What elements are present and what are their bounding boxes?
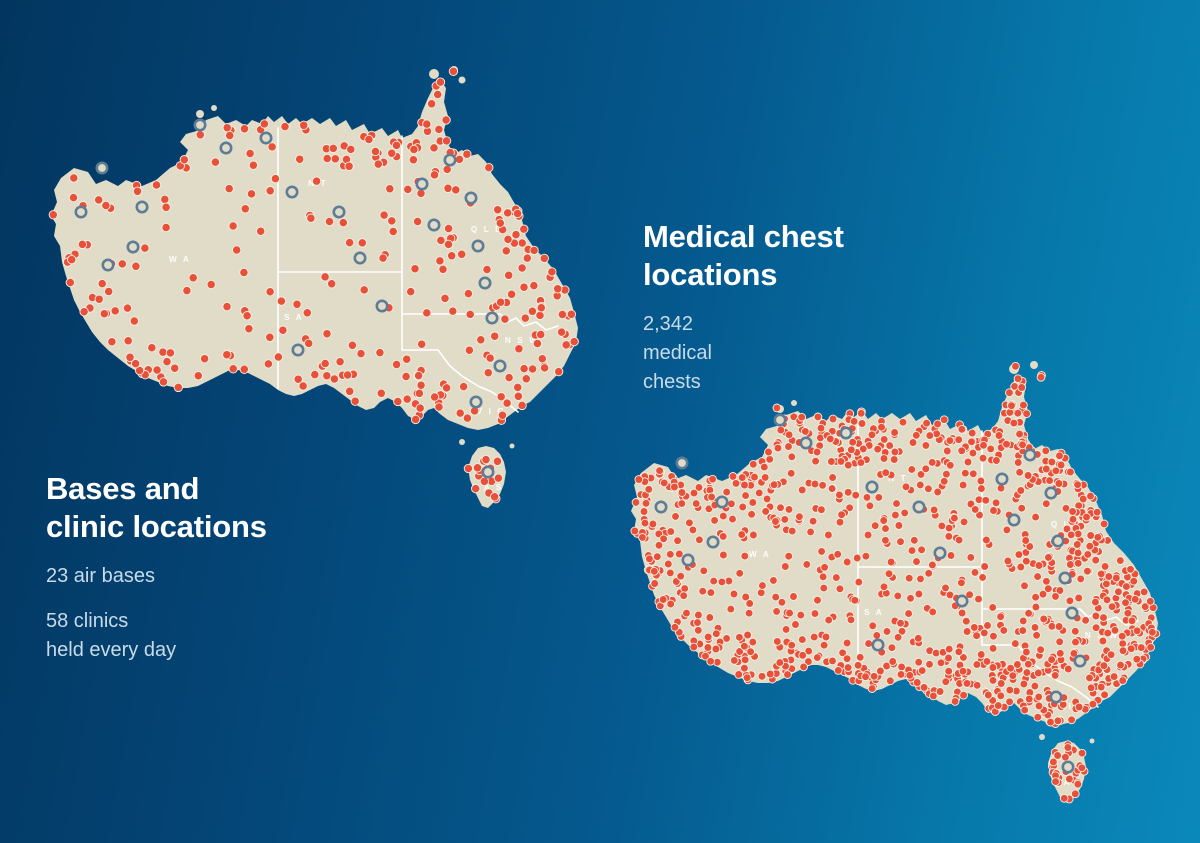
clinic-marker bbox=[357, 349, 365, 357]
clinic-marker bbox=[719, 533, 727, 541]
clinic-marker bbox=[528, 307, 536, 315]
clinic-marker bbox=[969, 470, 977, 478]
clinic-marker bbox=[1014, 409, 1022, 417]
clinic-marker bbox=[970, 624, 978, 632]
clinic-marker bbox=[639, 534, 647, 542]
clinic-marker bbox=[819, 481, 827, 489]
clinic-marker bbox=[1052, 778, 1060, 786]
clinic-marker bbox=[818, 548, 826, 556]
clinic-marker bbox=[379, 254, 387, 262]
air-base-marker bbox=[801, 438, 811, 448]
clinic-marker bbox=[747, 648, 755, 656]
clinic-marker bbox=[1082, 616, 1090, 624]
clinic-marker bbox=[435, 403, 443, 411]
clinic-marker bbox=[895, 522, 903, 530]
clinic-marker bbox=[1051, 672, 1059, 680]
clinic-marker bbox=[498, 411, 506, 419]
air-base-marker bbox=[867, 482, 877, 492]
clinic-marker bbox=[690, 643, 698, 651]
clinic-marker bbox=[494, 474, 502, 482]
clinic-marker bbox=[1111, 626, 1119, 634]
clinic-marker bbox=[750, 531, 758, 539]
clinic-marker bbox=[926, 660, 934, 668]
clinic-marker bbox=[798, 413, 806, 421]
clinic-marker bbox=[266, 187, 274, 195]
clinic-marker bbox=[365, 135, 373, 143]
clinic-marker bbox=[388, 149, 396, 157]
clinic-marker bbox=[111, 307, 119, 315]
clinic-marker bbox=[963, 680, 971, 688]
clinic-marker bbox=[520, 364, 528, 372]
clinic-marker bbox=[521, 314, 529, 322]
clinic-marker bbox=[271, 174, 279, 182]
clinic-marker bbox=[707, 657, 715, 665]
clinic-marker bbox=[1087, 684, 1095, 692]
clinic-marker bbox=[442, 137, 450, 145]
clinic-marker bbox=[1021, 582, 1029, 590]
clinic-marker bbox=[371, 147, 379, 155]
clinic-marker bbox=[836, 585, 844, 593]
air-base-marker bbox=[775, 415, 785, 425]
clinic-marker bbox=[1050, 758, 1058, 766]
air-base-marker bbox=[128, 242, 138, 252]
clinic-marker bbox=[892, 511, 900, 519]
clinic-marker bbox=[409, 156, 417, 164]
clinic-marker bbox=[908, 466, 916, 474]
clinic-marker bbox=[843, 639, 851, 647]
clinic-marker bbox=[893, 500, 901, 508]
clinic-marker bbox=[811, 610, 819, 618]
clinic-marker bbox=[1056, 638, 1064, 646]
clinic-marker bbox=[394, 397, 402, 405]
clinic-marker bbox=[1048, 656, 1056, 664]
clinic-marker bbox=[982, 496, 990, 504]
clinic-marker bbox=[274, 353, 282, 361]
clinic-marker bbox=[266, 333, 274, 341]
clinic-marker bbox=[194, 372, 202, 380]
clinic-marker bbox=[300, 121, 308, 129]
clinic-marker bbox=[1089, 700, 1097, 708]
clinic-marker bbox=[1119, 677, 1127, 685]
clinic-marker bbox=[951, 514, 959, 522]
clinic-marker bbox=[770, 481, 778, 489]
clinic-marker bbox=[758, 672, 766, 680]
clinic-marker bbox=[880, 455, 888, 463]
clinic-marker bbox=[671, 623, 679, 631]
air-base-marker bbox=[841, 428, 851, 438]
clinic-marker bbox=[781, 516, 789, 524]
clinic-marker bbox=[989, 664, 997, 672]
clinic-marker bbox=[869, 622, 877, 630]
clinic-marker bbox=[719, 512, 727, 520]
clinic-marker bbox=[1032, 593, 1040, 601]
clinic-marker bbox=[822, 633, 830, 641]
clinic-marker bbox=[226, 131, 234, 139]
clinic-marker bbox=[946, 461, 954, 469]
clinic-marker bbox=[1064, 744, 1072, 752]
clinic-marker bbox=[1101, 691, 1109, 699]
clinic-marker bbox=[773, 404, 781, 412]
clinic-marker bbox=[162, 203, 170, 211]
clinic-marker bbox=[788, 453, 796, 461]
clinic-marker bbox=[1039, 590, 1047, 598]
clinic-marker bbox=[477, 336, 485, 344]
clinic-marker bbox=[449, 67, 457, 75]
clinic-marker bbox=[439, 265, 447, 273]
clinic-marker bbox=[855, 578, 863, 586]
clinic-marker bbox=[245, 325, 253, 333]
clinic-marker bbox=[1115, 588, 1123, 596]
clinic-marker bbox=[1048, 458, 1056, 466]
clinic-marker bbox=[678, 489, 686, 497]
air-base-marker bbox=[261, 133, 271, 143]
clinic-marker bbox=[945, 533, 953, 541]
clinic-marker bbox=[305, 339, 313, 347]
clinic-marker bbox=[1087, 532, 1095, 540]
clinic-marker bbox=[993, 457, 1001, 465]
clinic-marker bbox=[997, 680, 1005, 688]
air-base-marker bbox=[483, 467, 493, 477]
clinic-marker bbox=[967, 554, 975, 562]
clinic-marker bbox=[1023, 410, 1031, 418]
clinic-marker bbox=[444, 184, 452, 192]
clinic-marker bbox=[667, 600, 675, 608]
clinic-marker bbox=[850, 417, 858, 425]
clinic-marker bbox=[490, 493, 498, 501]
clinic-marker bbox=[843, 558, 851, 566]
clinic-marker bbox=[930, 506, 938, 514]
clinic-marker bbox=[925, 485, 933, 493]
clinic-marker bbox=[635, 476, 643, 484]
clinic-marker bbox=[415, 389, 423, 397]
clinic-marker bbox=[1035, 562, 1043, 570]
clinic-marker bbox=[1074, 780, 1082, 788]
clinic-marker bbox=[849, 438, 857, 446]
clinic-marker bbox=[380, 211, 388, 219]
clinic-marker bbox=[505, 271, 513, 279]
clinic-marker bbox=[307, 214, 315, 222]
clinic-marker bbox=[960, 518, 968, 526]
clinic-marker bbox=[947, 552, 955, 560]
clinic-marker bbox=[694, 619, 702, 627]
clinic-marker bbox=[555, 367, 563, 375]
clinic-marker bbox=[537, 330, 545, 338]
clinic-marker bbox=[800, 663, 808, 671]
clinic-marker bbox=[901, 509, 909, 517]
clinic-marker bbox=[537, 304, 545, 312]
clinic-marker bbox=[973, 681, 981, 689]
clinic-marker bbox=[331, 155, 339, 163]
clinic-marker bbox=[277, 297, 285, 305]
clinic-marker bbox=[766, 670, 774, 678]
clinic-marker bbox=[936, 688, 944, 696]
clinic-marker bbox=[667, 528, 675, 536]
clinic-marker bbox=[868, 685, 876, 693]
clinic-marker bbox=[241, 205, 249, 213]
clinic-marker bbox=[296, 155, 304, 163]
clinic-marker bbox=[325, 217, 333, 225]
clinic-marker bbox=[942, 584, 950, 592]
clinic-marker bbox=[303, 309, 311, 317]
clinic-marker bbox=[1047, 718, 1055, 726]
clinic-marker bbox=[102, 201, 110, 209]
clinic-marker bbox=[812, 457, 820, 465]
clinic-marker bbox=[233, 246, 241, 254]
clinic-marker bbox=[523, 254, 531, 262]
clinic-marker bbox=[718, 578, 726, 586]
clinic-marker bbox=[882, 525, 890, 533]
air-base-marker bbox=[1051, 692, 1061, 702]
clinic-marker bbox=[923, 419, 931, 427]
clinic-marker bbox=[908, 547, 916, 555]
air-base-marker bbox=[97, 163, 107, 173]
clinic-marker bbox=[430, 171, 438, 179]
clinic-marker bbox=[152, 181, 160, 189]
bases-headline: Bases and clinic locations bbox=[46, 470, 386, 546]
clinic-marker bbox=[882, 536, 890, 544]
clinic-marker bbox=[854, 661, 862, 669]
clinic-marker bbox=[540, 254, 548, 262]
clinic-marker bbox=[100, 310, 108, 318]
clinic-marker bbox=[843, 655, 851, 663]
clinic-marker bbox=[1110, 673, 1118, 681]
clinic-marker bbox=[330, 375, 338, 383]
clinic-marker bbox=[514, 383, 522, 391]
clinic-marker bbox=[897, 671, 905, 679]
clinic-marker bbox=[689, 526, 697, 534]
chests-headline: Medical chest locations bbox=[643, 218, 963, 294]
clinic-marker bbox=[171, 364, 179, 372]
clinic-marker bbox=[773, 608, 781, 616]
clinic-marker bbox=[392, 360, 400, 368]
clinic-marker bbox=[723, 488, 731, 496]
clinic-marker bbox=[917, 575, 925, 583]
clinic-marker bbox=[229, 365, 237, 373]
clinic-marker bbox=[631, 527, 639, 535]
clinic-marker bbox=[518, 264, 526, 272]
clinic-marker bbox=[987, 445, 995, 453]
clinic-marker bbox=[1075, 594, 1083, 602]
air-base-marker bbox=[487, 313, 497, 323]
clinic-marker bbox=[755, 489, 763, 497]
clinic-marker bbox=[857, 459, 865, 467]
clinic-marker bbox=[161, 195, 169, 203]
clinic-marker bbox=[915, 658, 923, 666]
clinic-marker bbox=[416, 404, 424, 412]
clinic-marker bbox=[1040, 615, 1048, 623]
clinic-marker bbox=[997, 484, 1005, 492]
clinic-marker bbox=[436, 257, 444, 265]
clinic-marker bbox=[798, 636, 806, 644]
clinic-marker bbox=[773, 638, 781, 646]
clinic-marker bbox=[683, 609, 691, 617]
clinic-marker bbox=[1083, 513, 1091, 521]
clinic-marker bbox=[1037, 373, 1045, 381]
clinic-marker bbox=[518, 239, 526, 247]
clinic-marker bbox=[1023, 648, 1031, 656]
clinic-marker bbox=[123, 304, 131, 312]
clinic-marker bbox=[459, 382, 467, 390]
clinic-marker bbox=[1127, 645, 1135, 653]
clinic-marker bbox=[1006, 389, 1014, 397]
clinic-marker bbox=[1017, 487, 1025, 495]
clinic-marker bbox=[973, 661, 981, 669]
clinic-marker bbox=[1103, 580, 1111, 588]
clinic-marker bbox=[108, 338, 116, 346]
clinic-marker bbox=[859, 445, 867, 453]
clinic-marker bbox=[664, 560, 672, 568]
air-base-marker bbox=[957, 596, 967, 606]
clinic-marker bbox=[321, 359, 329, 367]
clinic-marker bbox=[866, 502, 874, 510]
clinic-marker bbox=[871, 522, 879, 530]
clinic-marker bbox=[958, 425, 966, 433]
air-base-marker bbox=[1063, 762, 1073, 772]
clinic-marker bbox=[223, 302, 231, 310]
clinic-marker bbox=[249, 161, 257, 169]
australia-medical-chests-map: W AN TS AQ L DN S WV I CT A S bbox=[610, 345, 1190, 815]
clinic-marker bbox=[762, 508, 770, 516]
clinic-marker bbox=[1069, 508, 1077, 516]
clinic-marker bbox=[672, 513, 680, 521]
air-base-marker bbox=[287, 187, 297, 197]
clinic-marker bbox=[958, 609, 966, 617]
clinic-marker bbox=[645, 485, 653, 493]
clinic-marker bbox=[797, 611, 805, 619]
clinic-marker bbox=[898, 663, 906, 671]
clinic-marker bbox=[943, 470, 951, 478]
clinic-marker bbox=[785, 431, 793, 439]
air-base-marker bbox=[480, 278, 490, 288]
clinic-marker bbox=[1086, 674, 1094, 682]
clinic-marker bbox=[979, 454, 987, 462]
clinic-marker bbox=[832, 574, 840, 582]
clinic-marker bbox=[825, 531, 833, 539]
clinic-marker bbox=[891, 448, 899, 456]
clinic-marker bbox=[1128, 617, 1136, 625]
clinic-marker bbox=[402, 372, 410, 380]
clinic-marker bbox=[430, 144, 438, 152]
clinic-marker bbox=[990, 507, 998, 515]
clinic-marker bbox=[1019, 617, 1027, 625]
clinic-marker bbox=[1032, 603, 1040, 611]
clinic-marker bbox=[955, 436, 963, 444]
clinic-marker bbox=[990, 632, 998, 640]
clinic-marker bbox=[825, 616, 833, 624]
clinic-marker bbox=[910, 536, 918, 544]
clinic-marker bbox=[741, 481, 749, 489]
clinic-marker bbox=[1093, 508, 1101, 516]
clinic-marker bbox=[1140, 588, 1148, 596]
clinic-marker bbox=[708, 493, 716, 501]
clinic-marker bbox=[1079, 495, 1087, 503]
clinic-marker bbox=[1077, 575, 1085, 583]
clinic-marker bbox=[877, 667, 885, 675]
clinic-marker bbox=[281, 122, 289, 130]
air-base-marker bbox=[471, 397, 481, 407]
clinic-marker bbox=[844, 488, 852, 496]
clinic-marker bbox=[885, 570, 893, 578]
clinic-marker bbox=[472, 484, 480, 492]
island-shape bbox=[459, 439, 465, 445]
air-base-marker bbox=[717, 497, 727, 507]
clinic-marker bbox=[915, 590, 923, 598]
clinic-marker bbox=[973, 632, 981, 640]
clinic-marker bbox=[1103, 596, 1111, 604]
clinic-marker bbox=[852, 491, 860, 499]
clinic-marker bbox=[1003, 440, 1011, 448]
clinic-marker bbox=[417, 381, 425, 389]
clinic-marker bbox=[464, 289, 472, 297]
clinic-marker bbox=[540, 364, 548, 372]
clinic-marker bbox=[746, 600, 754, 608]
clinic-marker bbox=[799, 651, 807, 659]
clinic-marker bbox=[538, 355, 546, 363]
clinic-marker bbox=[671, 483, 679, 491]
clinic-marker bbox=[983, 536, 991, 544]
clinic-marker bbox=[983, 658, 991, 666]
clinic-marker bbox=[979, 574, 987, 582]
clinic-marker bbox=[456, 409, 464, 417]
clinic-marker bbox=[1045, 554, 1053, 562]
clinic-marker bbox=[1019, 441, 1027, 449]
air-base-marker bbox=[1060, 573, 1070, 583]
clinic-marker bbox=[776, 659, 784, 667]
clinic-marker bbox=[336, 358, 344, 366]
clinic-marker bbox=[505, 373, 513, 381]
clinic-marker bbox=[813, 448, 821, 456]
clinic-marker bbox=[951, 698, 959, 706]
clinic-marker bbox=[928, 459, 936, 467]
clinic-marker bbox=[513, 209, 521, 217]
clinic-marker bbox=[945, 645, 953, 653]
clinic-marker bbox=[293, 300, 301, 308]
clinic-marker bbox=[659, 596, 667, 604]
clinic-marker bbox=[520, 283, 528, 291]
clinic-marker bbox=[828, 458, 836, 466]
clinic-marker bbox=[1122, 599, 1130, 607]
island-shape bbox=[1039, 734, 1045, 740]
clinic-marker bbox=[710, 577, 718, 585]
clinic-marker bbox=[163, 357, 171, 365]
clinic-marker bbox=[914, 634, 922, 642]
clinic-marker bbox=[196, 131, 204, 139]
clinic-marker bbox=[130, 317, 138, 325]
air-base-marker bbox=[76, 207, 86, 217]
clinic-marker bbox=[247, 190, 255, 198]
clinic-marker bbox=[1042, 447, 1050, 455]
clinic-marker bbox=[826, 435, 834, 443]
clinic-marker bbox=[666, 569, 674, 577]
clinic-marker bbox=[907, 594, 915, 602]
clinic-marker bbox=[963, 628, 971, 636]
clinic-marker bbox=[312, 177, 320, 185]
clinic-marker bbox=[504, 209, 512, 217]
clinic-marker bbox=[343, 371, 351, 379]
clinic-marker bbox=[786, 609, 794, 617]
island-shape bbox=[791, 400, 797, 406]
clinic-marker bbox=[413, 217, 421, 225]
clinic-marker bbox=[414, 371, 422, 379]
clinic-marker bbox=[567, 310, 575, 318]
clinic-marker bbox=[264, 360, 272, 368]
clinic-marker bbox=[1137, 644, 1145, 652]
clinic-marker bbox=[865, 640, 873, 648]
clinic-marker bbox=[1052, 593, 1060, 601]
clinic-marker bbox=[803, 561, 811, 569]
clinic-marker bbox=[784, 671, 792, 679]
clinic-marker bbox=[430, 393, 438, 401]
